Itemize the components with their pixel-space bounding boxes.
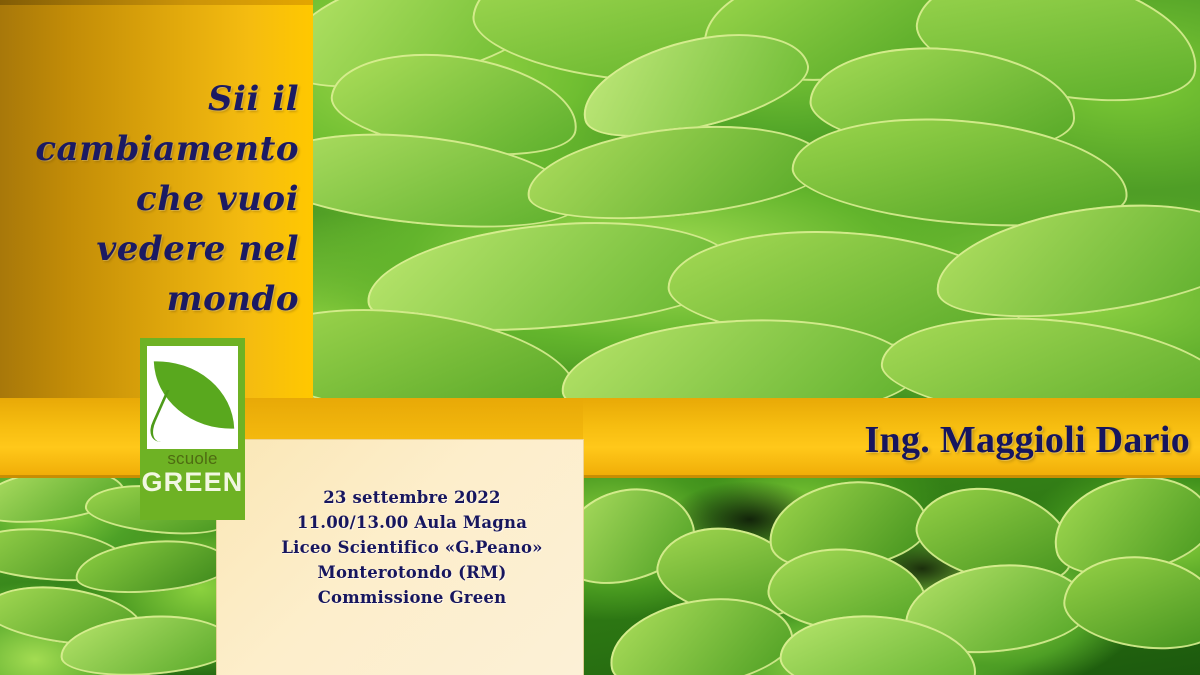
poster-headline: Sii il cambiamento che vuoi vedere nel m… <box>0 74 313 324</box>
event-line-school: Liceo Scientifico «G.Peano» <box>247 535 577 560</box>
speaker-name: Ing. Maggioli Dario <box>760 410 1190 470</box>
logo-word-green: GREEN <box>140 469 245 496</box>
scuole-green-logo: scuole GREEN <box>140 338 245 520</box>
event-info-text: 23 settembre 2022 11.00/13.00 Aula Magna… <box>247 485 583 610</box>
logo-wordmark: scuole GREEN <box>140 450 245 496</box>
event-line-city: Monterotondo (RM) <box>247 560 577 585</box>
bottom-right-succulent-photo <box>583 478 1200 675</box>
logo-word-scuole: scuole <box>140 450 245 467</box>
panel-top-edge <box>0 0 313 5</box>
poster-canvas: Sii il cambiamento che vuoi vedere nel m… <box>0 0 1200 675</box>
event-line-time-venue: 11.00/13.00 Aula Magna <box>247 510 577 535</box>
top-succulent-photo <box>313 0 1200 400</box>
event-line-date: 23 settembre 2022 <box>247 485 577 510</box>
event-line-organizer: Commissione Green <box>247 585 577 610</box>
leaf-icon <box>147 346 238 449</box>
gold-sliver <box>245 398 583 440</box>
